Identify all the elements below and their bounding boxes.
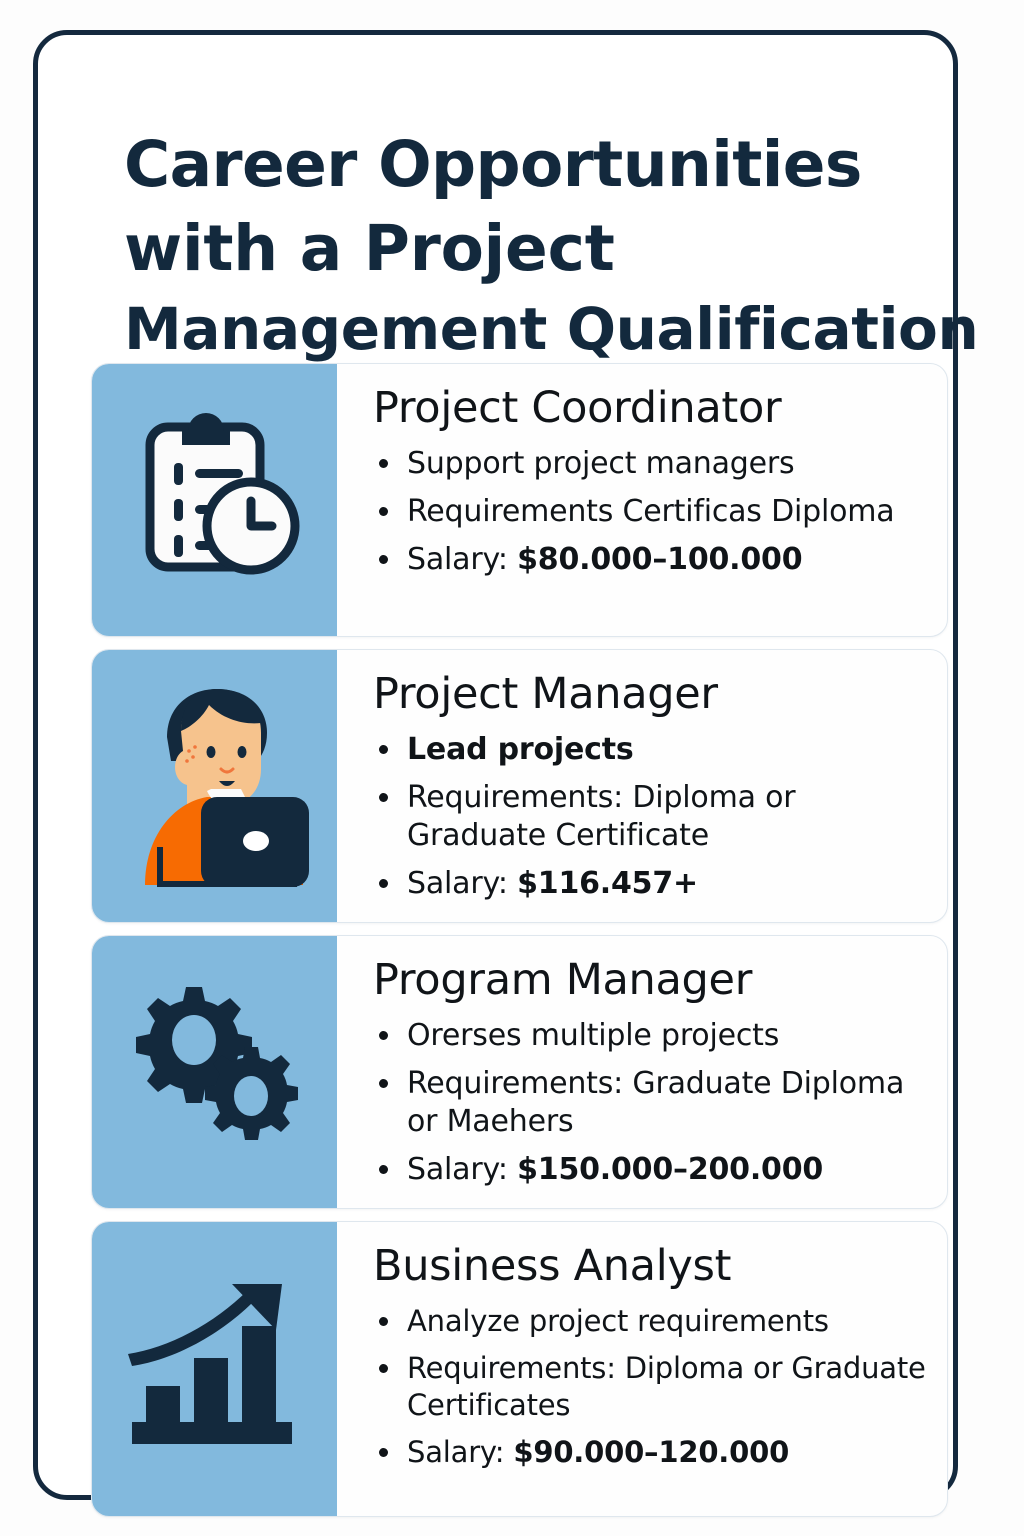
card-body: Program Manager Orerses multiple project… <box>337 936 947 1208</box>
page-title-line-1: Career Opportunities <box>124 123 934 207</box>
bullet-item-salary: Salary: $90.000–120.000 <box>373 1434 929 1471</box>
bullet-item: Orerses multiple projects <box>373 1017 929 1055</box>
bullet-item-salary: Salary: $80.000–100.000 <box>373 541 929 579</box>
poster-content: Career Opportunities with a Project Mana… <box>38 35 953 1495</box>
card-bullet-list: Orerses multiple projects Requirements: … <box>373 1017 929 1199</box>
salary-value: $80.000–100.000 <box>517 542 802 577</box>
salary-value: $116.457+ <box>517 866 698 901</box>
salary-label: Salary: <box>407 1152 517 1187</box>
bullet-item-salary: Salary: $150.000–200.000 <box>373 1151 929 1189</box>
bullet-item: Lead projects <box>373 731 929 769</box>
career-card-list: Project Coordinator Support project mana… <box>91 363 948 1529</box>
bullet-item: Requirements: Diploma or Graduate Certif… <box>373 1350 929 1424</box>
bullet-item-salary: Salary: $116.457+ <box>373 865 929 903</box>
card-title: Project Coordinator <box>373 386 929 431</box>
page-title-line-3: Management Qualification <box>124 291 934 368</box>
bullet-item: Analyze project requirements <box>373 1303 929 1340</box>
card-bullet-list: Support project managers Requirements Ce… <box>373 445 929 589</box>
card-title: Program Manager <box>373 958 929 1003</box>
growth-chart-icon <box>120 1282 310 1457</box>
poster-frame: Career Opportunities with a Project Mana… <box>33 30 958 1500</box>
gears-icon <box>120 985 310 1160</box>
card-body: Project Coordinator Support project mana… <box>337 364 947 636</box>
page-title-line-2: with a Project <box>124 207 934 291</box>
poster-root: Career Opportunities with a Project Mana… <box>0 0 1024 1536</box>
bullet-item: Requirements Certificas Diploma <box>373 493 929 531</box>
card-body: Project Manager Lead projects Requiremen… <box>337 650 947 922</box>
card-icon-panel <box>92 936 337 1208</box>
clipboard-clock-icon <box>120 405 310 595</box>
card-icon-panel <box>92 364 337 636</box>
card-icon-panel <box>92 650 337 922</box>
salary-label: Salary: <box>407 542 517 577</box>
bullet-item: Requirements: Graduate Diploma or Maeher… <box>373 1065 929 1141</box>
card-bullet-list: Lead projects Requirements: Diploma or G… <box>373 731 929 913</box>
page-title: Career Opportunities with a Project Mana… <box>124 123 934 368</box>
salary-label: Salary: <box>407 866 517 901</box>
person-laptop-icon <box>115 679 315 894</box>
card-title: Project Manager <box>373 672 929 717</box>
career-card-business-analyst[interactable]: Business Analyst Analyze project require… <box>91 1221 948 1517</box>
career-card-project-manager[interactable]: Project Manager Lead projects Requiremen… <box>91 649 948 923</box>
bullet-item: Support project managers <box>373 445 929 483</box>
career-card-project-coordinator[interactable]: Project Coordinator Support project mana… <box>91 363 948 637</box>
card-body: Business Analyst Analyze project require… <box>337 1222 947 1516</box>
bullet-item: Requirements: Diploma or Graduate Certif… <box>373 779 929 855</box>
card-icon-panel <box>92 1222 337 1516</box>
card-title: Business Analyst <box>373 1244 929 1289</box>
salary-value: $150.000–200.000 <box>517 1152 823 1187</box>
salary-value: $90.000–120.000 <box>513 1435 789 1469</box>
salary-label: Salary: <box>407 1435 513 1469</box>
card-bullet-list: Analyze project requirements Requirement… <box>373 1303 929 1480</box>
career-card-program-manager[interactable]: Program Manager Orerses multiple project… <box>91 935 948 1209</box>
